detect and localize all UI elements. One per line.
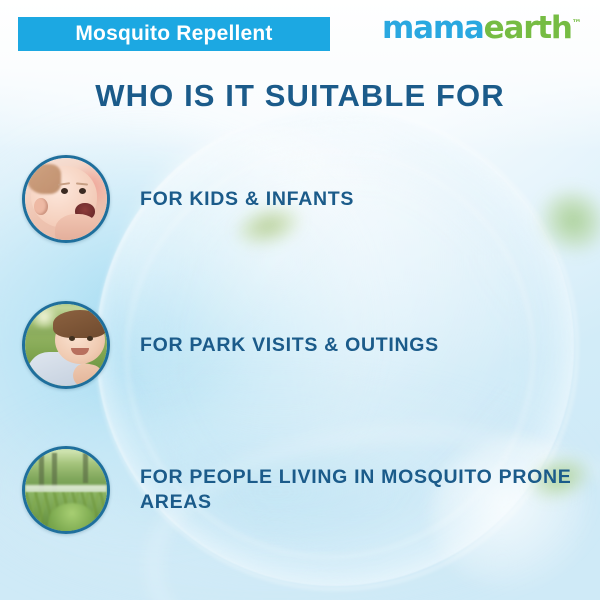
list-item-label: FOR KIDS & INFANTS xyxy=(140,187,354,212)
brand-logo-earth: earth xyxy=(484,10,572,46)
trademark-icon: ™ xyxy=(572,19,582,30)
list-item: FOR PEOPLE LIVING IN MOSQUITO PRONE AREA… xyxy=(0,446,600,534)
product-infographic: Mosquito Repellent mamaearth™ WHO IS IT … xyxy=(0,0,600,600)
brand-logo-mama: mama xyxy=(382,10,484,46)
avatar xyxy=(22,301,110,389)
list-item-label: FOR PEOPLE LIVING IN MOSQUITO PRONE AREA… xyxy=(140,465,600,515)
list-item: FOR KIDS & INFANTS xyxy=(0,155,600,243)
avatar xyxy=(22,446,110,534)
avatar xyxy=(22,155,110,243)
list-item-label: FOR PARK VISITS & OUTINGS xyxy=(140,333,439,358)
page-title: WHO IS IT SUITABLE FOR xyxy=(0,78,600,114)
toddler-on-grass-photo xyxy=(25,304,107,386)
product-category-banner: Mosquito Repellent xyxy=(18,17,330,51)
header: Mosquito Repellent mamaearth™ xyxy=(0,0,600,64)
infant-baby-photo xyxy=(25,158,107,240)
list-item: FOR PARK VISITS & OUTINGS xyxy=(0,301,600,389)
product-category-label: Mosquito Repellent xyxy=(75,22,272,46)
marshland-landscape-photo xyxy=(25,449,107,531)
brand-logo: mamaearth™ xyxy=(382,13,582,44)
